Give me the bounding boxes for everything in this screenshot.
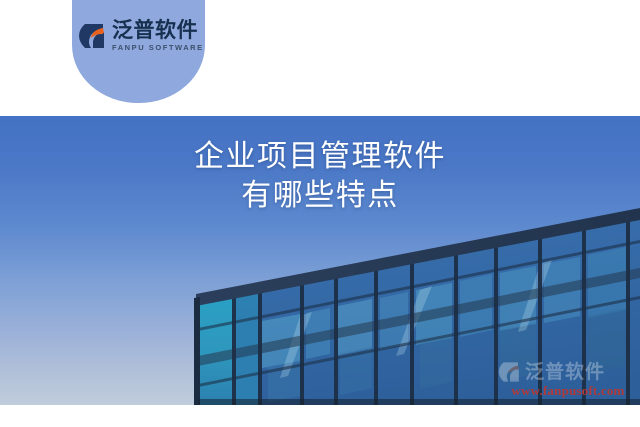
watermark-brand-name: 泛普软件 — [525, 363, 605, 382]
hero-image: 企业项目管理软件 有哪些特点 泛普软件 www.fanpusoft.com — [0, 116, 640, 405]
page-root: 泛普软件 FANPU SOFTWARE — [0, 0, 640, 427]
brand-text-block: 泛普软件 FANPU SOFTWARE — [112, 20, 204, 52]
fanpu-swoosh-logo-icon — [498, 360, 522, 384]
brand-name-en: FANPU SOFTWARE — [112, 44, 204, 52]
brand-name-cn: 泛普软件 — [112, 20, 204, 42]
brand-logo-lockup[interactable]: 泛普软件 FANPU SOFTWARE — [78, 17, 202, 55]
footer-band — [0, 405, 640, 427]
watermark: 泛普软件 www.fanpusoft.com — [498, 357, 638, 405]
watermark-url: www.fanpusoft.com — [498, 383, 638, 399]
fanpu-swoosh-logo-icon — [78, 21, 108, 51]
